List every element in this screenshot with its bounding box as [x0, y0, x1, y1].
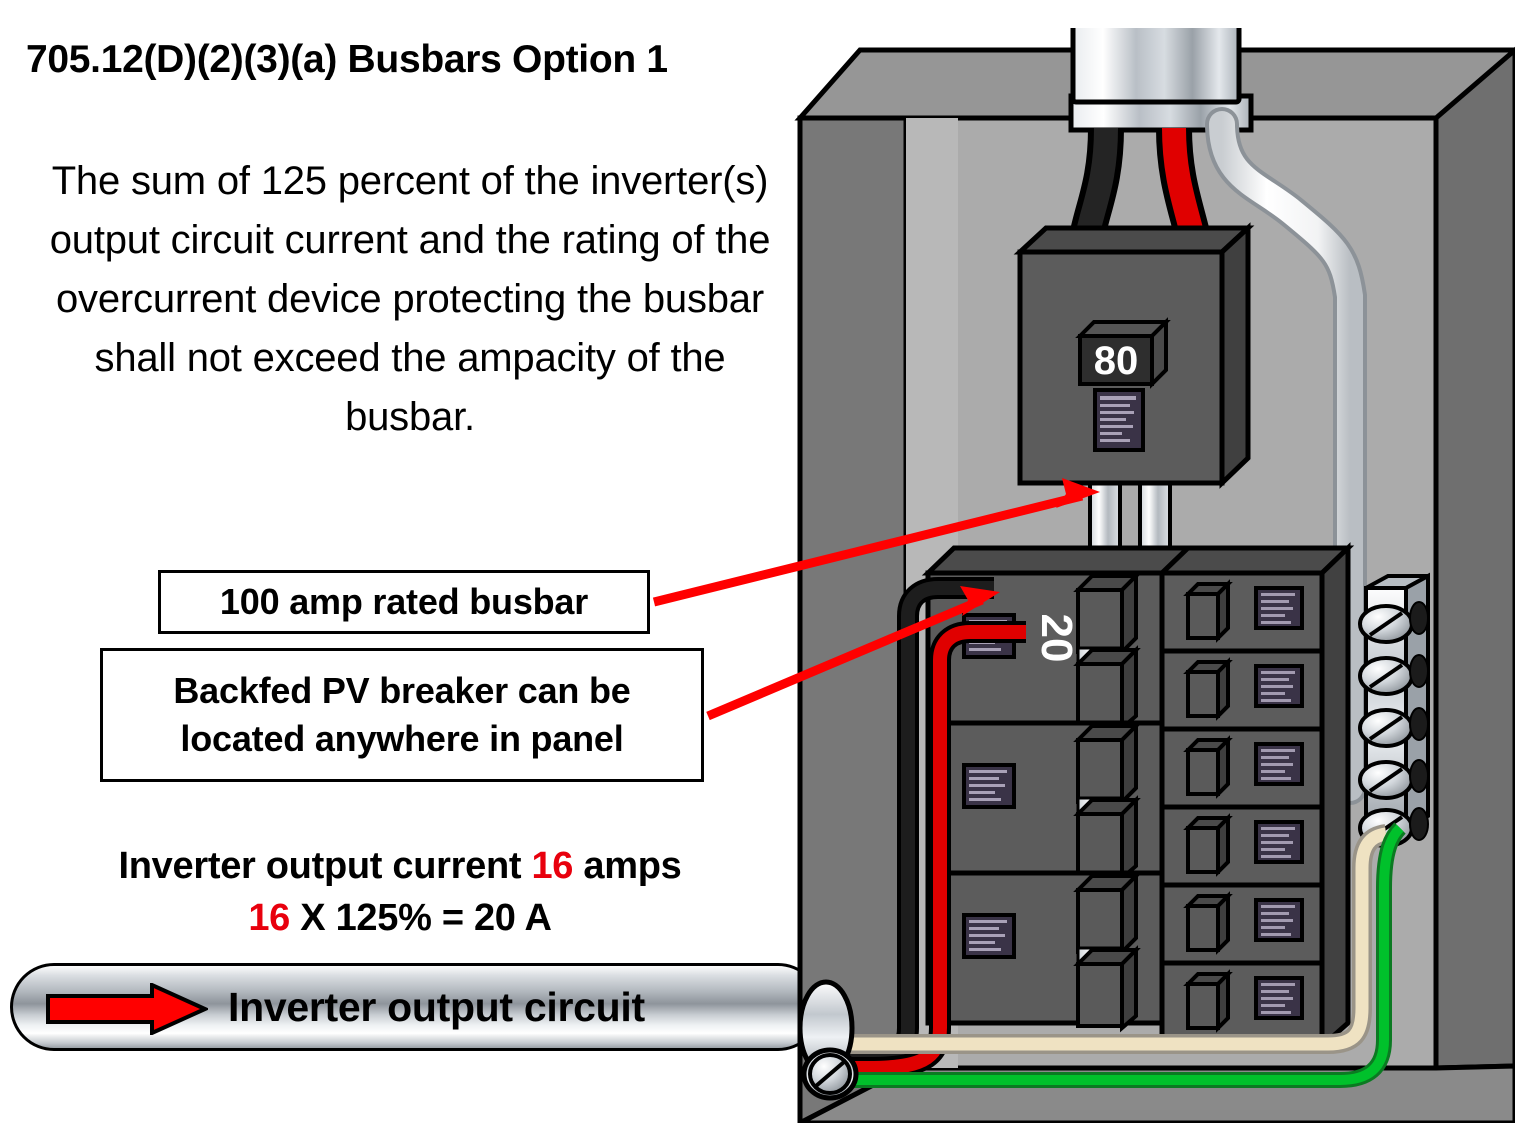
code-paragraph: The sum of 125 percent of the inverter(s…	[34, 152, 786, 447]
calc-line1-post: amps	[573, 845, 681, 887]
calculation-block: Inverter output current 16 amps 16 X 125…	[20, 840, 780, 944]
right-breaker-column	[1162, 548, 1348, 1046]
callout-backfed-pv-breaker: Backfed PV breaker can be located anywhe…	[100, 648, 704, 782]
conduit-connector	[800, 982, 856, 1098]
callout-100-amp-busbar: 100 amp rated busbar	[158, 570, 650, 634]
slide-canvas: 705.12(D)(2)(3)(a) Busbars Option 1 The …	[0, 0, 1515, 1123]
right-arrow-icon	[46, 983, 208, 1035]
electrical-panel-illustration: 80	[788, 28, 1515, 1123]
panel-svg: 80	[788, 28, 1515, 1123]
calc-line1-pre: Inverter output current	[119, 845, 532, 887]
neutral-ground-bar	[1360, 576, 1428, 846]
calc-line1-value: 16	[531, 845, 573, 887]
calculation-line-1: Inverter output current 16 amps	[20, 840, 780, 892]
calculation-line-2: 16 X 125% = 20 A	[20, 892, 780, 944]
calc-line2-value: 16	[248, 897, 290, 939]
left-breaker-column: 20	[928, 548, 1188, 1028]
pv-breaker-rating-text: 20	[1032, 614, 1081, 663]
page-title: 705.12(D)(2)(3)(a) Busbars Option 1	[26, 38, 786, 82]
callout-busbar-label: 100 amp rated busbar	[220, 581, 588, 623]
main-breaker-rating-text: 80	[1094, 339, 1139, 383]
conduit-label: Inverter output circuit	[228, 975, 698, 1039]
calc-line2-post: X 125% = 20 A	[290, 897, 552, 939]
callout-breaker-label: Backfed PV breaker can be located anywhe…	[117, 667, 687, 763]
